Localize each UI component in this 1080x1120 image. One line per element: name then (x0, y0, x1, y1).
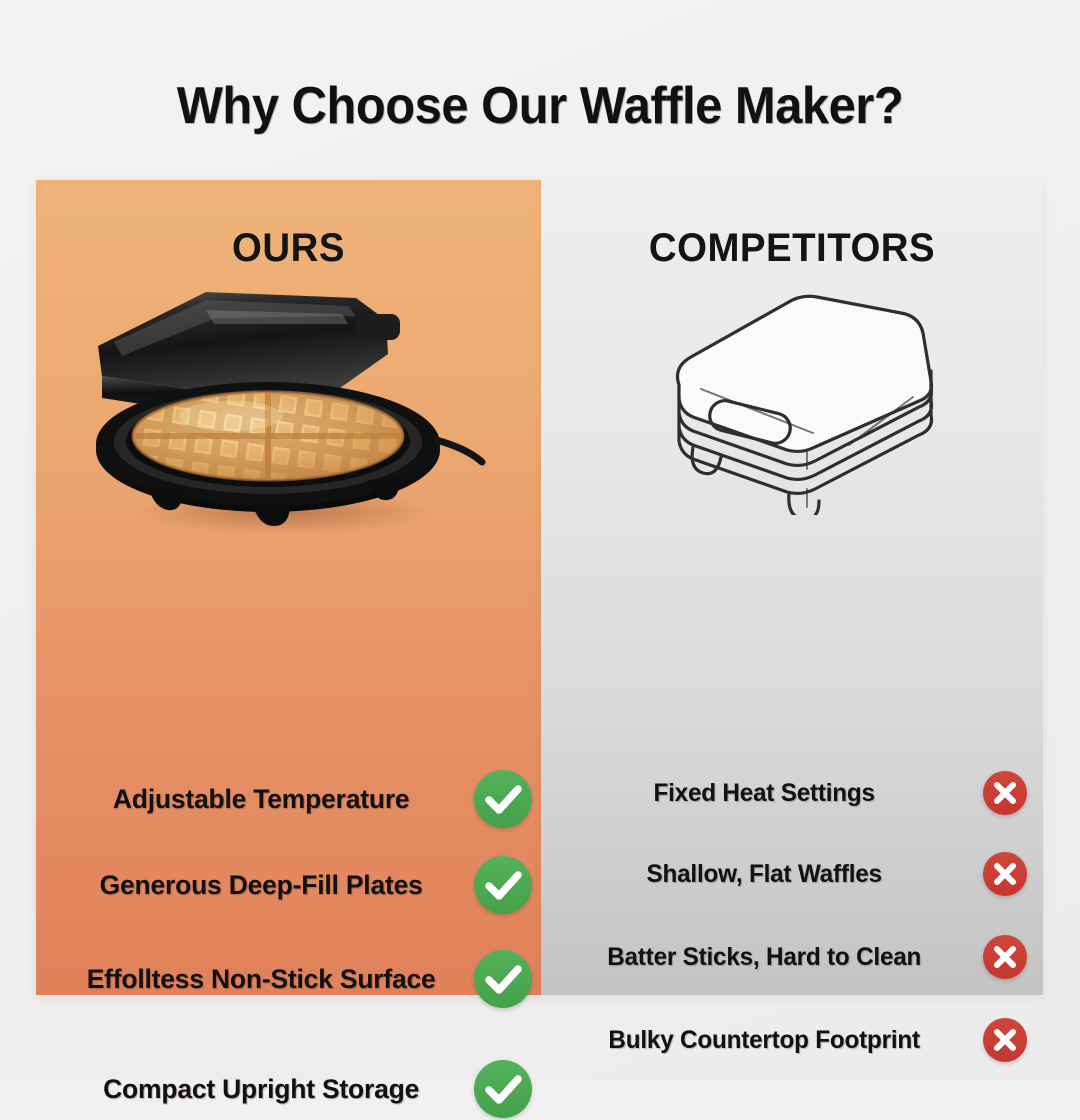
check-circle-icon (474, 856, 532, 914)
feature-label: Compact Upright Storage (66, 1074, 470, 1105)
cross-circle-icon (983, 852, 1027, 896)
feature-row-ours-2[interactable]: Generous Deep-Fill Plates (62, 854, 532, 916)
feature-label: Shallow, Flat Waffles (563, 860, 976, 889)
cross-circle-icon (983, 935, 1027, 979)
feature-row-competitor-1[interactable]: Fixed Heat Settings (557, 766, 1027, 820)
feature-row-competitor-3[interactable]: Batter Sticks, Hard to Clean (557, 930, 1027, 984)
feature-label: Bulky Countertop Footprint (563, 1026, 976, 1055)
feature-label: Fixed Heat Settings (563, 779, 976, 808)
check-circle-icon (474, 1060, 532, 1118)
cross-circle-icon (983, 771, 1027, 815)
feature-row-competitor-2[interactable]: Shallow, Flat Waffles (557, 847, 1027, 901)
cross-circle-icon (983, 1018, 1027, 1062)
feature-label: Effolltess Non-Stick Surface (66, 964, 470, 995)
competitors-feature-list: Fixed Heat Settings Shallow, Flat Waffle… (541, 180, 1043, 995)
feature-row-ours-4[interactable]: Compact Upright Storage (62, 1058, 532, 1120)
ours-panel: OURS (36, 180, 541, 995)
competitors-panel: COMPETITORS (541, 180, 1043, 995)
feature-row-ours-3[interactable]: Effolltess Non-Stick Surface (62, 948, 532, 1010)
check-circle-icon (474, 770, 532, 828)
feature-label: Batter Sticks, Hard to Clean (563, 943, 976, 972)
comparison-infographic: Why Choose Our Waffle Maker? OURS (0, 0, 1080, 1080)
ours-feature-list: Adjustable Temperature Generous Deep-Fil… (36, 180, 541, 995)
feature-label: Generous Deep-Fill Plates (66, 870, 470, 901)
feature-label: Adjustable Temperature (66, 784, 470, 815)
check-circle-icon (474, 950, 532, 1008)
feature-row-ours-1[interactable]: Adjustable Temperature (62, 768, 532, 830)
page-title: Why Choose Our Waffle Maker? (32, 76, 1047, 136)
feature-row-competitor-4[interactable]: Bulky Countertop Footprint (557, 1013, 1027, 1067)
